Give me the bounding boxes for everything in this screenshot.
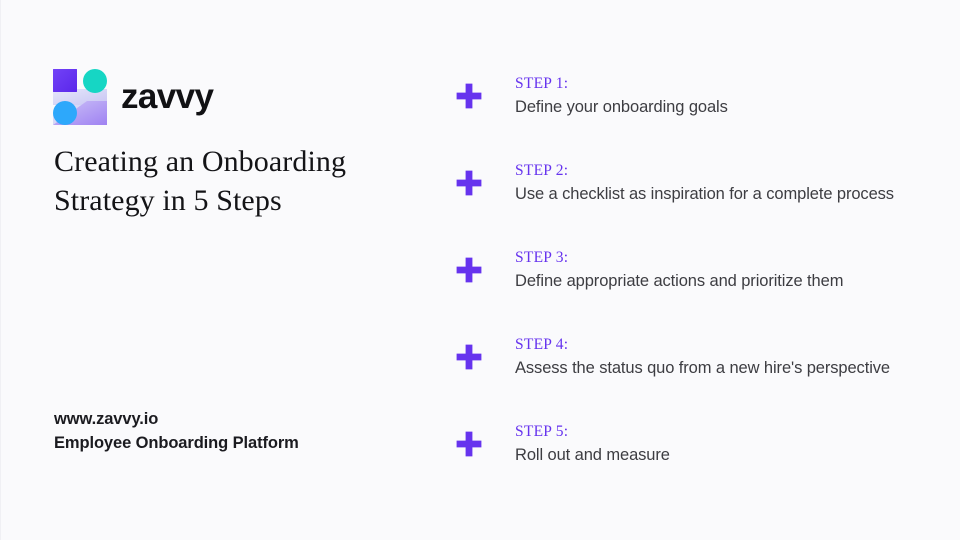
step-label: STEP 1: bbox=[515, 74, 936, 94]
step-label: STEP 3: bbox=[515, 248, 936, 268]
step-text-block: STEP 5: Roll out and measure bbox=[515, 422, 936, 467]
step-text-block: STEP 3: Define appropriate actions and p… bbox=[515, 248, 936, 293]
step-label: STEP 2: bbox=[515, 161, 936, 181]
step-label: STEP 5: bbox=[515, 422, 936, 442]
step-description: Define appropriate actions and prioritiz… bbox=[515, 271, 936, 293]
plus-icon bbox=[456, 344, 482, 370]
plus-icon bbox=[456, 431, 482, 457]
step-text-block: STEP 2: Use a checklist as inspiration f… bbox=[515, 161, 936, 206]
plus-icon bbox=[456, 257, 482, 283]
step-text-block: STEP 4: Assess the status quo from a new… bbox=[515, 335, 936, 380]
step-label: STEP 4: bbox=[515, 335, 936, 355]
step-description: Roll out and measure bbox=[515, 445, 936, 467]
website-url: www.zavvy.io bbox=[54, 407, 384, 431]
list-item: STEP 4: Assess the status quo from a new… bbox=[456, 327, 936, 387]
brand-lockup: zavvy bbox=[53, 69, 213, 125]
page-title: Creating an Onboarding Strategy in 5 Ste… bbox=[54, 143, 404, 220]
left-column: zavvy Creating an Onboarding Strategy in… bbox=[53, 0, 433, 540]
list-item: STEP 3: Define appropriate actions and p… bbox=[456, 240, 936, 300]
footer-block: www.zavvy.io Employee Onboarding Platfor… bbox=[54, 407, 384, 456]
step-description: Use a checklist as inspiration for a com… bbox=[515, 184, 936, 206]
step-description: Assess the status quo from a new hire's … bbox=[515, 358, 936, 380]
list-item: STEP 2: Use a checklist as inspiration f… bbox=[456, 153, 936, 213]
steps-list: STEP 1: Define your onboarding goals STE… bbox=[456, 66, 936, 474]
plus-icon bbox=[456, 83, 482, 109]
list-item: STEP 5: Roll out and measure bbox=[456, 414, 936, 474]
list-item: STEP 1: Define your onboarding goals bbox=[456, 66, 936, 126]
zavvy-wordmark: zavvy bbox=[121, 79, 213, 116]
plus-icon bbox=[456, 170, 482, 196]
slide-canvas: zavvy Creating an Onboarding Strategy in… bbox=[0, 0, 960, 540]
zavvy-z-logo-icon bbox=[53, 69, 107, 125]
tagline: Employee Onboarding Platform bbox=[54, 431, 384, 455]
step-text-block: STEP 1: Define your onboarding goals bbox=[515, 74, 936, 119]
step-description: Define your onboarding goals bbox=[515, 97, 936, 119]
